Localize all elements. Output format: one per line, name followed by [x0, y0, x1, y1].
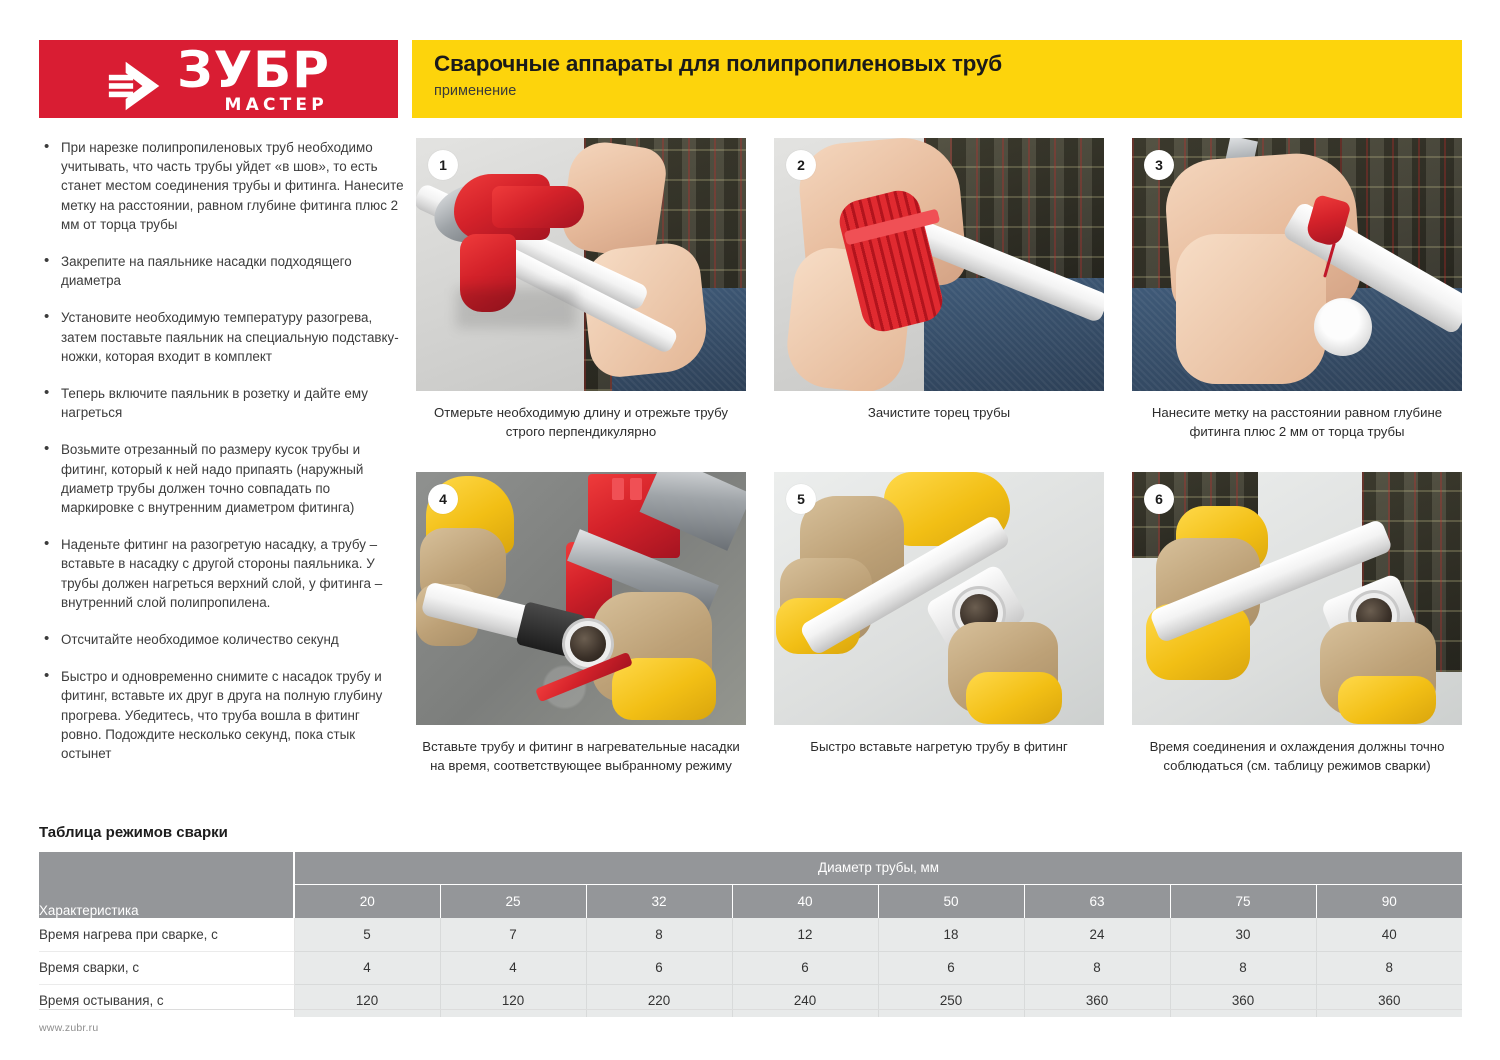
step-photo-5: 5	[774, 472, 1104, 725]
step-badge-1: 1	[428, 150, 458, 180]
table-cell: 6	[732, 951, 878, 984]
step-photo-2: 2	[774, 138, 1104, 391]
step-card-3: 3 Нанесите метку на расстоянии равном гл…	[1132, 138, 1462, 441]
header-diameter-90: 90	[1316, 884, 1462, 918]
header-diameter-50: 50	[878, 884, 1024, 918]
table-cell: 360	[1316, 984, 1462, 1017]
step-card-4: 4 Вставьте трубу и фитинг в нагревательн…	[416, 472, 746, 775]
row-label: Время нагрева при сварке, с	[39, 918, 294, 951]
zubr-arrow-icon	[107, 58, 163, 114]
table-cell: 8	[1170, 951, 1316, 984]
step-row-top: 1 Отмерьте необходимую длину и отрежьте …	[416, 138, 1462, 441]
row-label: Время остывания, с	[39, 984, 294, 1017]
list-item: Отсчитайте необходимое количество секунд	[39, 630, 404, 649]
instructions-list: При нарезке полипропиленовых труб необхо…	[39, 138, 404, 781]
table-cell: 360	[1024, 984, 1170, 1017]
footer-url: www.zubr.ru	[39, 1022, 98, 1034]
table-cell: 40	[1316, 918, 1462, 951]
table-cell: 6	[586, 951, 732, 984]
step-card-1: 1 Отмерьте необходимую длину и отрежьте …	[416, 138, 746, 441]
table-cell: 4	[440, 951, 586, 984]
table-title: Таблица режимов сварки	[39, 824, 228, 841]
page-subtitle: применение	[434, 83, 1462, 99]
table-row: Время нагрева при сварке, с 5 7 8 12 18 …	[39, 918, 1462, 951]
table-header-row-group: Характеристика Диаметр трубы, мм	[39, 852, 1462, 884]
step-photo-grid: 1 Отмерьте необходимую длину и отрежьте …	[416, 138, 1462, 775]
list-item: Закрепите на паяльнике насадки подходяще…	[39, 252, 404, 290]
table-cell: 8	[1024, 951, 1170, 984]
table-cell: 240	[732, 984, 878, 1017]
step-caption-5: Быстро вставьте нагретую трубу в фитинг	[774, 738, 1104, 757]
welding-modes-table: Характеристика Диаметр трубы, мм 20 25 3…	[39, 852, 1462, 1017]
list-item: Быстро и одновременно снимите с насадок …	[39, 667, 404, 763]
table-cell: 120	[440, 984, 586, 1017]
step-photo-3: 3	[1132, 138, 1462, 391]
step-card-6: 6 Время соединения и охлаждения должны т…	[1132, 472, 1462, 775]
step-caption-3: Нанесите метку на расстоянии равном глуб…	[1132, 404, 1462, 441]
footer-divider	[39, 1009, 1462, 1010]
list-item: Возьмите отрезанный по размеру кусок тру…	[39, 440, 404, 517]
page-title: Сварочные аппараты для полипропиленовых …	[434, 52, 1462, 77]
table-cell: 220	[586, 984, 732, 1017]
list-item: Установите необходимую температуру разог…	[39, 308, 404, 366]
step-caption-2: Зачистите торец трубы	[774, 404, 1104, 423]
step-caption-4: Вставьте трубу и фитинг в нагревательные…	[416, 738, 746, 775]
step-badge-5: 5	[786, 484, 816, 514]
step-caption-6: Время соединения и охлаждения должны точ…	[1132, 738, 1462, 775]
list-item: При нарезке полипропиленовых труб необхо…	[39, 138, 404, 234]
header-diameter-63: 63	[1024, 884, 1170, 918]
table-cell: 6	[878, 951, 1024, 984]
step-caption-1: Отмерьте необходимую длину и отрежьте тр…	[416, 404, 746, 441]
brand-sub: МАСТЕР	[224, 97, 327, 114]
step-badge-2: 2	[786, 150, 816, 180]
table-cell: 8	[586, 918, 732, 951]
step-row-bottom: 4 Вставьте трубу и фитинг в нагревательн…	[416, 472, 1462, 775]
table-cell: 8	[1316, 951, 1462, 984]
step-card-2: 2 Зачистите торец трубы	[774, 138, 1104, 441]
step-photo-4: 4	[416, 472, 746, 725]
row-label: Время сварки, с	[39, 951, 294, 984]
table-cell: 7	[440, 918, 586, 951]
table-cell: 250	[878, 984, 1024, 1017]
brand-logo: ЗУБР МАСТЕР	[39, 40, 398, 118]
table-cell: 120	[294, 984, 440, 1017]
table-cell: 4	[294, 951, 440, 984]
header-diameter-25: 25	[440, 884, 586, 918]
table-cell: 30	[1170, 918, 1316, 951]
header-diameter-32: 32	[586, 884, 732, 918]
header-diameter-group: Диаметр трубы, мм	[294, 852, 1462, 884]
step-badge-6: 6	[1144, 484, 1174, 514]
header-diameter-20: 20	[294, 884, 440, 918]
list-item: Теперь включите паяльник в розетку и дай…	[39, 384, 404, 422]
table-cell: 12	[732, 918, 878, 951]
table-cell: 24	[1024, 918, 1170, 951]
table-cell: 360	[1170, 984, 1316, 1017]
step-photo-6: 6	[1132, 472, 1462, 725]
header-characteristic: Характеристика	[39, 852, 294, 918]
table-row: Время сварки, с 4 4 6 6 6 8 8 8	[39, 951, 1462, 984]
list-item: Наденьте фитинг на разогретую насадку, а…	[39, 535, 404, 612]
step-badge-4: 4	[428, 484, 458, 514]
header-diameter-40: 40	[732, 884, 878, 918]
step-card-5: 5 Быстро вставьте нагретую трубу в фитин…	[774, 472, 1104, 775]
table-cell: 18	[878, 918, 1024, 951]
table-row: Время остывания, с 120 120 220 240 250 3…	[39, 984, 1462, 1017]
brand-name: ЗУБР	[177, 45, 330, 95]
header-diameter-75: 75	[1170, 884, 1316, 918]
step-photo-1: 1	[416, 138, 746, 391]
title-banner: Сварочные аппараты для полипропиленовых …	[412, 40, 1462, 118]
step-badge-3: 3	[1144, 150, 1174, 180]
table-cell: 5	[294, 918, 440, 951]
page-header: ЗУБР МАСТЕР Сварочные аппараты для полип…	[0, 0, 1500, 125]
